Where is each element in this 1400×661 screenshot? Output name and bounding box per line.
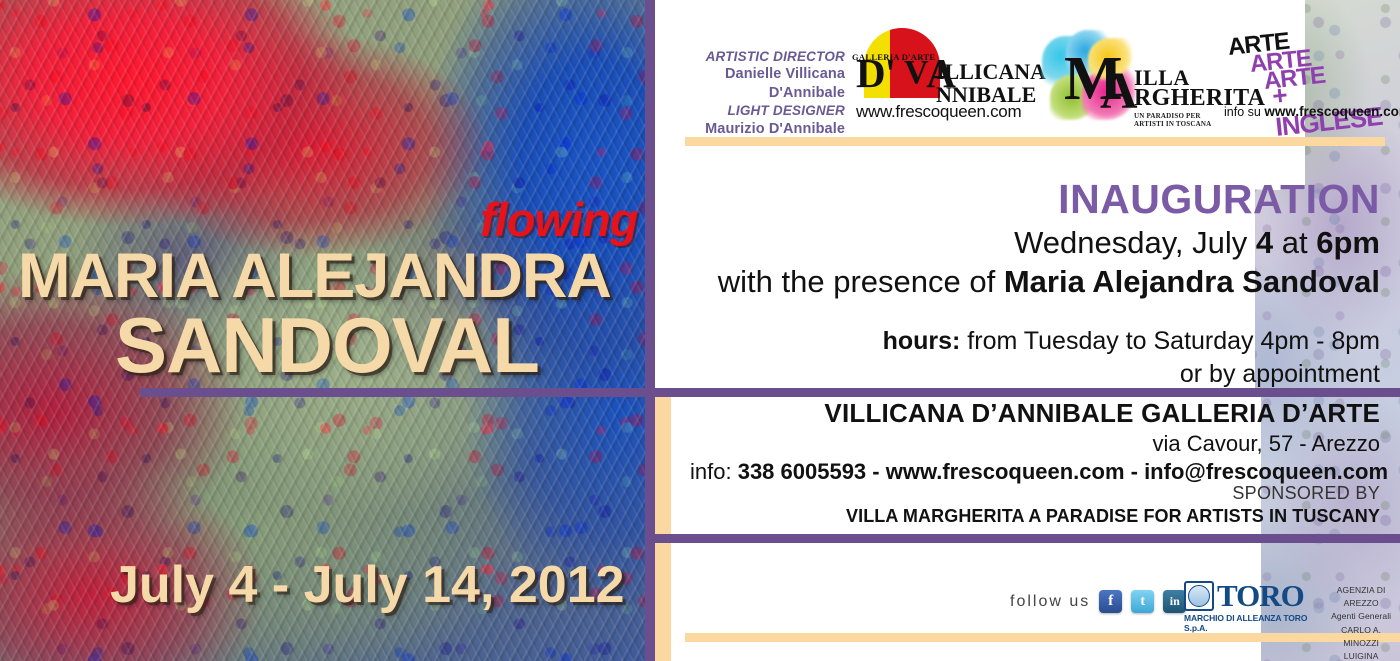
arte-info-url[interactable]: www.frescoqueen.com: [1264, 104, 1400, 119]
toro-logo: TORO MARCHIO DI ALLEANZA TORO S.p.A.: [1184, 580, 1316, 633]
artistic-director-name: Danielle Villicana D'Annibale: [660, 65, 845, 102]
toro-agency-line-4: LUIGINA MARTINELLI: [1322, 650, 1400, 661]
logo-v-letter: V: [904, 54, 929, 92]
inauguration-artist-name: Maria Alejandra Sandoval: [1004, 264, 1380, 299]
gallery-name: VILLICANA D’ANNIBALE GALLERIA D’ARTE: [690, 398, 1380, 429]
toro-agency-line-1: AGENZIA DI AREZZO: [1322, 584, 1400, 610]
credits-block: ARTISTIC DIRECTOR Danielle Villicana D'A…: [660, 48, 845, 138]
villicana-dannibale-logo: GALLERIA D'ARTE D' A V ILLICANA NNIBALE …: [852, 28, 1032, 123]
toro-wordmark: TORO: [1217, 580, 1304, 611]
hours-label: hours:: [883, 327, 961, 355]
toro-seal-icon: [1184, 581, 1214, 611]
twitter-icon[interactable]: t: [1131, 590, 1154, 613]
hours-value: from Tuesday to Saturday 4pm - 8pm: [960, 327, 1380, 355]
logo-website-url[interactable]: www.frescoqueen.com: [856, 102, 1021, 122]
arte-info-prefix: info su: [1224, 105, 1264, 119]
gallery-contact-details[interactable]: 338 6005593 - www.frescoqueen.com - info…: [738, 459, 1388, 484]
toro-agency-line-2: Agenti Generali: [1322, 610, 1400, 623]
gallery-info-label: info:: [690, 459, 738, 484]
hours-line: hours: from Tuesday to Saturday 4pm - 8p…: [690, 325, 1380, 358]
exhibition-poster: flowing MARIA ALEJANDRA SANDOVAL July 4 …: [0, 0, 1400, 661]
inauguration-presence: with the presence of Maria Alejandra San…: [690, 263, 1380, 302]
exhibit-title-flowing: flowing: [480, 192, 637, 247]
inauguration-day-number: 4: [1256, 225, 1273, 260]
social-block: follow us f t in: [1010, 590, 1186, 613]
inauguration-day-prefix: Wednesday, July: [1014, 225, 1256, 260]
light-designer-role: LIGHT DESIGNER: [660, 102, 845, 119]
sponsor-label: SPONSORED BY: [690, 483, 1380, 504]
light-designer-name: Maurizio D'Annibale: [660, 120, 845, 139]
artist-name-last: SANDOVAL: [115, 300, 715, 391]
logo-d-letter: D': [856, 50, 895, 96]
exhibition-dates: July 4 - July 14, 2012: [110, 555, 625, 615]
inauguration-time: 6pm: [1316, 225, 1380, 260]
villa-margherita-logo: M A ILLA RGHERITA UN PARADISO PER ARTIST…: [1042, 30, 1222, 122]
inauguration-at: at: [1273, 225, 1316, 260]
inauguration-datetime: Wednesday, July 4 at 6pm: [690, 224, 1380, 263]
toro-seal-inner: [1188, 585, 1210, 607]
vertical-purple-divider: [645, 0, 655, 661]
purple-rule-footer-top: [645, 534, 1400, 543]
inauguration-heading: INAUGURATION: [690, 178, 1380, 221]
gallery-address: via Cavour, 57 - Arezzo: [690, 431, 1380, 457]
logo-a-letter: A: [1100, 66, 1138, 118]
inauguration-block: INAUGURATION Wednesday, July 4 at 6pm wi…: [690, 178, 1380, 302]
arte-inglese-logo: ARTE ARTE ARTE + INGLESE info su www.fre…: [1224, 34, 1389, 116]
gallery-block: VILLICANA D’ANNIBALE GALLERIA D’ARTE via…: [690, 398, 1380, 485]
toro-agency-line-3: CARLO A. MINOZZI: [1322, 624, 1400, 650]
artistic-director-role: ARTISTIC DIRECTOR: [660, 48, 845, 65]
toro-logo-block: TORO MARCHIO DI ALLEANZA TORO S.p.A. AGE…: [1184, 580, 1400, 661]
facebook-icon[interactable]: f: [1099, 590, 1122, 613]
hours-block: hours: from Tuesday to Saturday 4pm - 8p…: [690, 325, 1380, 390]
arte-info-line[interactable]: info su www.frescoqueen.com: [1224, 104, 1400, 119]
hours-appointment: or by appointment: [690, 358, 1380, 391]
follow-us-label: follow us: [1010, 593, 1090, 611]
vertical-cream-bar-upper: [655, 394, 671, 428]
toro-agency-details: AGENZIA DI AREZZO Agenti Generali CARLO …: [1322, 580, 1400, 661]
linkedin-icon[interactable]: in: [1163, 590, 1186, 613]
toro-subtitle: MARCHIO DI ALLEANZA TORO S.p.A.: [1184, 613, 1316, 633]
sponsor-name: VILLA MARGHERITA A PARADISE FOR ARTISTS …: [690, 506, 1380, 527]
logo-tagline: UN PARADISO PER ARTISTI IN TOSCANA: [1134, 112, 1222, 128]
sponsor-block: SPONSORED BY VILLA MARGHERITA A PARADISE…: [690, 483, 1380, 527]
vertical-cream-bar: [655, 428, 671, 661]
inauguration-presence-prefix: with the presence of: [718, 264, 1004, 299]
gallery-contact-line: info: 338 6005593 - www.frescoqueen.com …: [690, 459, 1380, 485]
toro-logo-row: TORO: [1184, 580, 1316, 611]
